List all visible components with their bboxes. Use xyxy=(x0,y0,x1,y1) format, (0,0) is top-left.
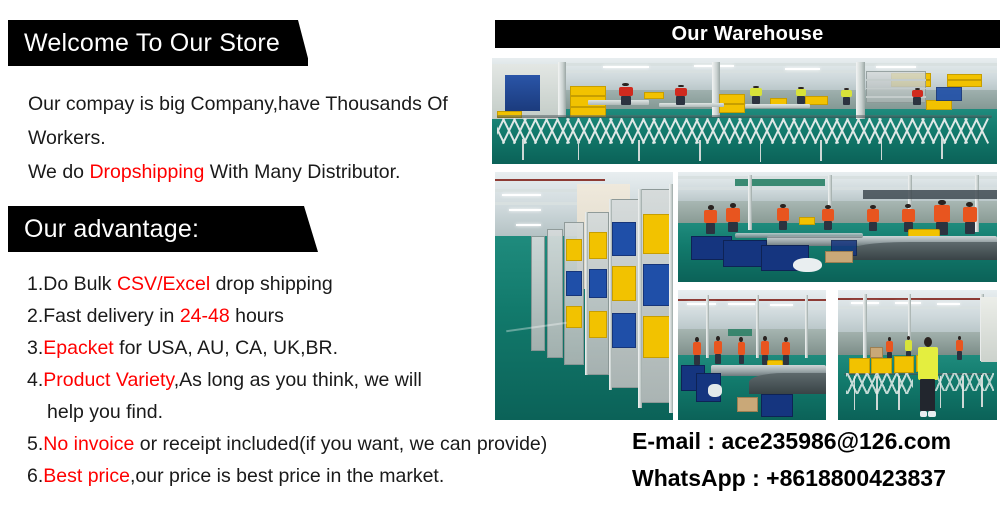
warehouse-banner: Our Warehouse xyxy=(495,20,1000,48)
dropshipping-text-after: With Many Distributor. xyxy=(204,161,400,183)
advantage-item-6-after: ,our price is best price in the market. xyxy=(130,465,444,487)
advantage-banner: Our advantage: xyxy=(8,206,318,252)
advantage-item-1-after: drop shipping xyxy=(210,273,333,295)
advantage-item-4-after: ,As long as you think, we will xyxy=(174,369,422,391)
contact-email-text: E-mail : ace235986@126.com xyxy=(632,428,951,454)
welcome-banner-text: Welcome To Our Store xyxy=(24,29,280,58)
contact-whatsapp-text: WhatsApp : +8618800423837 xyxy=(632,465,946,491)
advantage-item-6-highlight: Best price xyxy=(43,465,130,487)
contact-whatsapp[interactable]: WhatsApp : +8618800423837 xyxy=(632,465,946,492)
advantage-item-1-number: 1. xyxy=(27,273,43,295)
photo-warehouse-shelving-aisle xyxy=(495,172,673,420)
advantage-item-4-highlight: Product Variety xyxy=(43,369,173,391)
photo-packing-line xyxy=(678,290,826,420)
dropshipping-highlight: Dropshipping xyxy=(89,161,204,183)
intro-paragraph-line-1: Our compay is big Company,have Thousands… xyxy=(28,87,448,121)
welcome-banner: Welcome To Our Store xyxy=(8,20,308,66)
contact-email[interactable]: E-mail : ace235986@126.com xyxy=(632,428,951,455)
advantage-item-2-before: Fast delivery in xyxy=(43,305,180,327)
advantage-item-6-number: 6. xyxy=(27,465,43,487)
photo-warehouse-conveyor-wide xyxy=(492,58,997,164)
photo-sorting-line xyxy=(678,172,997,282)
dropshipping-text-before: We do xyxy=(28,161,89,183)
intro-paragraph-line-2: Workers. xyxy=(28,121,106,155)
left-content-column: Welcome To Our Store Our compay is big C… xyxy=(0,0,500,516)
photo-worker-loading xyxy=(838,290,997,420)
intro-paragraph-line-3: We do Dropshipping With Many Distributor… xyxy=(28,155,400,189)
advantage-item-3-after: for USA, AU, CA, UK,BR. xyxy=(114,337,338,359)
advantage-item-2-number: 2. xyxy=(27,305,43,327)
advantage-banner-text: Our advantage: xyxy=(24,215,199,244)
advantage-item-1-highlight: CSV/Excel xyxy=(117,273,210,295)
advantage-item-3-highlight: Epacket xyxy=(43,337,113,359)
advantage-item-3-number: 3. xyxy=(27,337,43,359)
warehouse-banner-text: Our Warehouse xyxy=(671,23,823,46)
advantage-item-5-highlight: No invoice xyxy=(43,433,134,455)
advantage-item-2-highlight: 24-48 xyxy=(180,305,230,327)
advantage-item-5-after: or receipt included(if you want, we can … xyxy=(134,433,547,455)
advantage-item-5-number: 5. xyxy=(27,433,43,455)
advantage-item-4-number: 4. xyxy=(27,369,43,391)
advantage-item-2-after: hours xyxy=(230,305,284,327)
promo-banner-page: Welcome To Our Store Our compay is big C… xyxy=(0,0,1000,516)
advantage-item-1-before: Do Bulk xyxy=(43,273,117,295)
